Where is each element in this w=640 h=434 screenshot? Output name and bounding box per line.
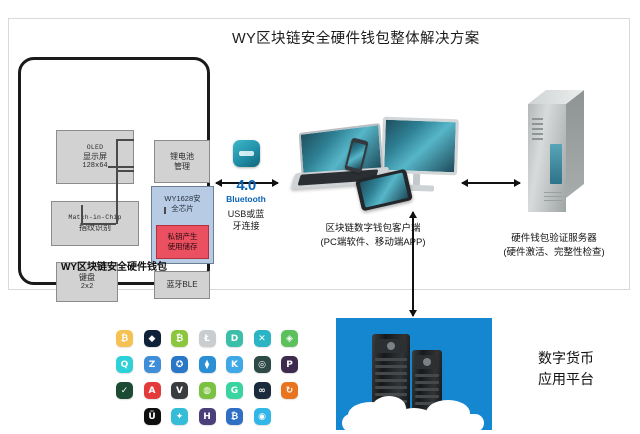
- hardware-wallet-box: OLED 显示屏 128x64 锂电池 管理 Match-in-Chip 指纹识…: [18, 57, 210, 285]
- icon-row: ₿◆₿ŁD✕◈: [116, 330, 312, 347]
- diagram-canvas: WY区块链安全硬件钱包整体解决方案 OLED 显示屏 128x64 锂电池 管理…: [0, 0, 640, 434]
- connector-ble-v: [164, 207, 166, 214]
- server-grille-line: [544, 192, 562, 193]
- connector-bus-v: [116, 139, 118, 224]
- oled-label-1: OLED: [87, 144, 103, 152]
- connector-chip-in: [116, 170, 134, 172]
- dash-icon[interactable]: D: [226, 330, 243, 347]
- connection-caption-line2: 牙连接: [232, 221, 259, 231]
- tablet-screen: [360, 172, 409, 207]
- bluetooth-logo: 4.0 Bluetooth: [214, 178, 278, 204]
- rack-head: [375, 339, 407, 353]
- neo-icon[interactable]: ◈: [281, 330, 298, 347]
- server-vent: [532, 118, 543, 120]
- icon-spacer: [281, 408, 298, 425]
- supported-coins-icon-grid: ₿◆₿ŁD✕◈QZ✪⧫K◎P✓AV◍G∞↻Ü✦H₿◉: [116, 330, 312, 434]
- komodo-icon[interactable]: K: [226, 356, 243, 373]
- ethereum-icon[interactable]: ◆: [144, 330, 161, 347]
- server-indicator-panel: [550, 144, 562, 184]
- server-side-panel: [566, 90, 584, 198]
- page-title: WY区块链安全硬件钱包整体解决方案: [232, 27, 480, 48]
- segwit2x-icon[interactable]: ◉: [254, 408, 271, 425]
- bitcoin-gold-icon[interactable]: ₿: [226, 408, 243, 425]
- server-grille-line: [544, 200, 562, 201]
- server-front-panel: [528, 104, 566, 212]
- icon-row: ✓AV◍G∞↻: [116, 382, 312, 399]
- arrow-client-to-platform: [412, 212, 414, 316]
- zcash-icon[interactable]: Z: [144, 356, 161, 373]
- server-caption: 硬件钱包验证服务器 (硬件激活、完整性检查): [470, 232, 638, 260]
- connector-keypad-h: [81, 223, 116, 225]
- pivx-icon[interactable]: P: [281, 356, 298, 373]
- server-vent: [532, 123, 543, 125]
- server-caption-line1: 硬件钱包验证服务器: [511, 233, 597, 244]
- rack-head: [415, 355, 439, 369]
- digital-currency-platform-image: [336, 318, 492, 430]
- client-caption-line2: (PC端软件、移动端APP): [320, 237, 425, 248]
- cloud-shape: [342, 414, 484, 430]
- bluetooth-version: 4.0: [214, 178, 278, 193]
- stellar-icon[interactable]: ✪: [171, 356, 188, 373]
- chip-title-line2: 全芯片: [171, 204, 194, 213]
- litecoin-icon[interactable]: Ł: [199, 330, 216, 347]
- match-label-1: Match-in-Chip: [68, 214, 121, 222]
- battery-label-2: 管理: [174, 162, 190, 172]
- vertcoin-icon[interactable]: ✓: [116, 382, 133, 399]
- server-vent: [532, 138, 543, 140]
- bitcoin-icon[interactable]: ₿: [116, 330, 133, 347]
- server-vent: [532, 133, 543, 135]
- stratis-icon[interactable]: ↻: [281, 382, 298, 399]
- chip-title: WY1628安 全芯片: [164, 194, 200, 214]
- keypad-label-2: 2x2: [81, 283, 94, 292]
- wallet-caption: WY区块链安全硬件钱包: [18, 258, 210, 273]
- qtum-icon[interactable]: Q: [116, 356, 133, 373]
- platform-caption: 数字货币 应用平台: [538, 348, 638, 390]
- ubiq-icon[interactable]: Ü: [144, 408, 161, 425]
- platform-caption-line1: 数字货币: [538, 350, 594, 366]
- private-key-line2: 使用储存: [168, 242, 198, 252]
- expanse-icon[interactable]: ✦: [171, 408, 188, 425]
- imac-icon: [381, 117, 459, 176]
- client-devices-group: [286, 104, 458, 214]
- icon-row: Ü✦H₿◉: [116, 408, 312, 425]
- private-key-line1: 私钥产生: [168, 232, 198, 242]
- nano-icon[interactable]: ◍: [199, 382, 216, 399]
- connection-caption-line1: USB或蓝: [228, 209, 265, 219]
- waves-icon[interactable]: ⧫: [199, 356, 216, 373]
- server-vent: [532, 128, 543, 130]
- keypad-label-1: 键盘: [79, 273, 95, 283]
- connector-keypad-v: [81, 205, 83, 224]
- connection-caption: USB或蓝 牙连接: [206, 208, 286, 232]
- oled-label-2: 显示屏: [83, 152, 107, 162]
- client-caption-line1: 区块链数字钱包客户端: [325, 223, 420, 234]
- bitcoin-cash-icon[interactable]: ₿: [171, 330, 188, 347]
- connector-match-h: [108, 166, 134, 168]
- arrow-client-to-server: [462, 182, 520, 184]
- chip-title-line1: WY1628安: [164, 194, 200, 203]
- oled-label-3: 128x64: [82, 162, 107, 171]
- viacoin-icon[interactable]: V: [171, 382, 188, 399]
- block-private-key-storage: 私钥产生 使用储存: [156, 225, 209, 259]
- client-caption: 区块链数字钱包客户端 (PC端软件、移动端APP): [288, 222, 458, 250]
- battery-label-1: 锂电池: [170, 152, 194, 162]
- ark-icon[interactable]: A: [144, 382, 161, 399]
- block-secure-chip: WY1628安 全芯片 私钥产生 使用储存: [151, 186, 214, 264]
- server-caption-line2: (硬件激活、完整性检查): [503, 247, 604, 258]
- verification-server-icon: [528, 90, 584, 212]
- block-bluetooth-ble: 蓝牙BLE: [154, 271, 210, 299]
- server-grille-line: [544, 196, 562, 197]
- connector-oled-h: [116, 139, 134, 141]
- icon-spacer: [116, 408, 133, 425]
- usb-bluetooth-icon: [233, 140, 260, 167]
- groestlcoin-icon[interactable]: G: [226, 382, 243, 399]
- ble-label: 蓝牙BLE: [166, 280, 197, 290]
- ripple-icon[interactable]: ✕: [254, 330, 271, 347]
- icon-row: QZ✪⧫K◎P: [116, 356, 312, 373]
- bluetooth-wordmark: Bluetooth: [214, 194, 278, 204]
- hcash-icon[interactable]: H: [199, 408, 216, 425]
- monero-icon[interactable]: ◎: [254, 356, 271, 373]
- block-battery-management: 锂电池 管理: [154, 140, 210, 183]
- platform-caption-line2: 应用平台: [538, 371, 594, 387]
- digibyte-icon[interactable]: ∞: [254, 382, 271, 399]
